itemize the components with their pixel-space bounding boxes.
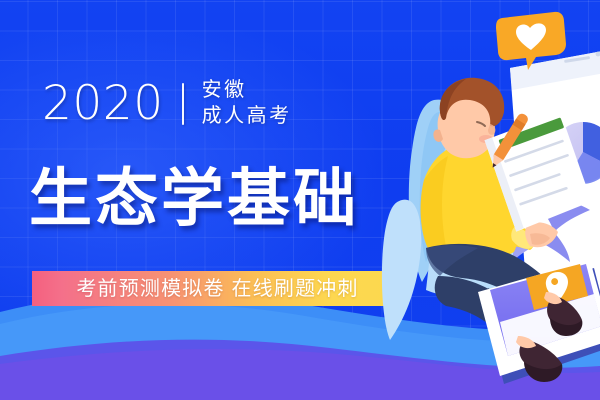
vertical-divider xyxy=(182,83,184,125)
promo-banner: 2020 安徽 成人高考 生态学基础 考前预测模拟卷 在线刷题冲刺 xyxy=(0,0,600,400)
page-title: 生态学基础 xyxy=(29,164,359,234)
headline-block: 2020 安徽 成人高考 生态学基础 考前预测模拟卷 在线刷题冲刺 xyxy=(0,0,430,400)
student-studying-illustration xyxy=(378,0,600,400)
year-label: 2020 xyxy=(42,80,164,127)
region-line-2: 成人高考 xyxy=(202,105,292,128)
region-line-1: 安徽 xyxy=(202,79,292,102)
region-label-group: 安徽 成人高考 xyxy=(202,79,292,128)
subtitle-text: 考前预测模拟卷 在线刷题冲刺 xyxy=(76,279,358,299)
year-region-row: 2020 安徽 成人高考 xyxy=(42,79,292,128)
subtitle-ribbon: 考前预测模拟卷 在线刷题冲刺 xyxy=(32,271,403,306)
